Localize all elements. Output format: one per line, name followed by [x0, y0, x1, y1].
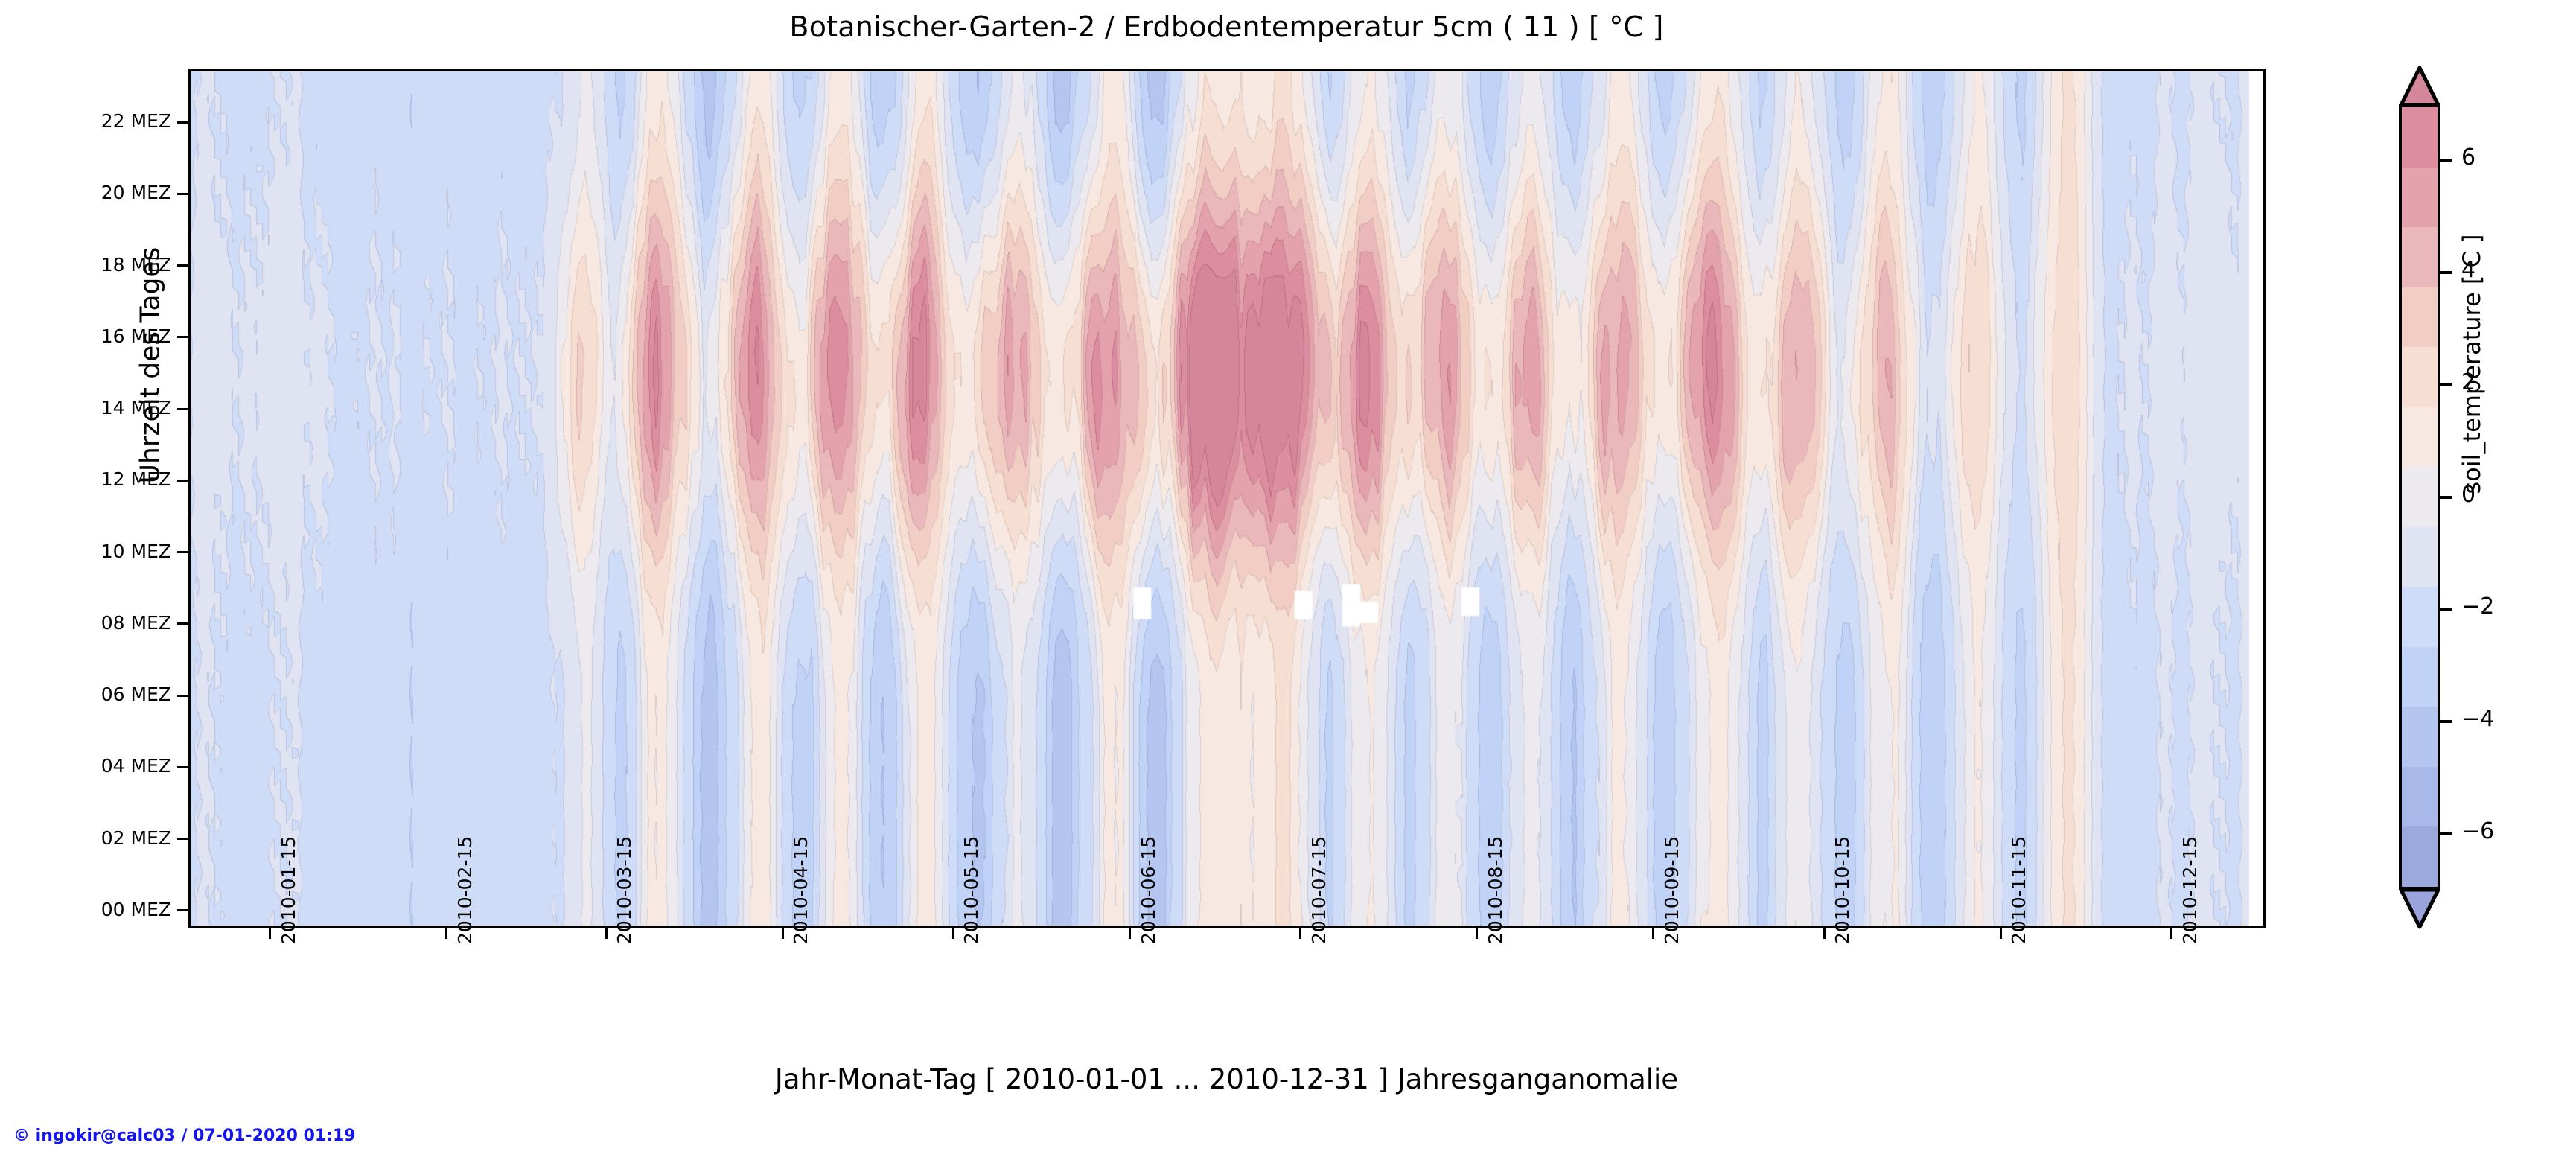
colorbar-band — [2402, 647, 2438, 707]
y-tick-label: 12 MEZ — [45, 468, 171, 490]
colorbar-tick-label: −2 — [2461, 593, 2494, 619]
colorbar-band — [2402, 826, 2438, 887]
colorbar-band — [2402, 347, 2438, 407]
contour-plot-area[interactable] — [188, 69, 2266, 928]
x-tick-mark — [445, 928, 447, 939]
x-tick-mark — [1129, 928, 1131, 939]
y-tick-mark — [177, 336, 188, 338]
y-tick-mark — [177, 193, 188, 195]
x-tick-mark — [1476, 928, 1478, 939]
y-tick-label: 08 MEZ — [45, 612, 171, 634]
x-tick-mark — [605, 928, 608, 939]
y-tick-label: 10 MEZ — [45, 541, 171, 562]
y-tick-label: 00 MEZ — [45, 899, 171, 920]
colorbar[interactable]: 6420−2−4−6 — [2399, 66, 2443, 929]
colorbar-tick-mark — [2440, 383, 2452, 386]
colorbar-band — [2402, 407, 2438, 468]
colorbar-band — [2402, 107, 2438, 168]
colorbar-tick-mark — [2440, 159, 2452, 162]
y-tick-mark — [177, 408, 188, 410]
x-tick-mark — [269, 928, 271, 939]
colorbar-tick-mark — [2440, 271, 2452, 274]
x-tick-label: 2010-11-15 — [2008, 836, 2030, 944]
colorbar-band — [2402, 227, 2438, 287]
x-tick-label: 2010-05-15 — [960, 836, 982, 944]
y-tick-mark — [177, 551, 188, 553]
colorbar-band — [2402, 168, 2438, 228]
x-tick-label: 2010-03-15 — [613, 836, 635, 944]
x-tick-label: 2010-12-15 — [2179, 836, 2201, 944]
x-tick-mark — [1652, 928, 1654, 939]
x-tick-mark — [1823, 928, 1826, 939]
y-tick-label: 04 MEZ — [45, 755, 171, 777]
footer-credit: © ingokir@calc03 / 07-01-2020 01:19 — [13, 1127, 356, 1145]
x-tick-label: 2010-01-15 — [278, 836, 299, 944]
colorbar-tick-mark — [2440, 608, 2452, 611]
y-tick-label: 02 MEZ — [45, 827, 171, 849]
colorbar-under-arrow — [2399, 888, 2440, 929]
x-tick-mark — [2000, 928, 2002, 939]
colorbar-bands — [2399, 104, 2440, 890]
colorbar-label: soil_temperature [ C ] — [2458, 208, 2486, 520]
colorbar-tick-mark — [2440, 496, 2452, 499]
y-tick-mark — [177, 264, 188, 267]
colorbar-band — [2402, 287, 2438, 348]
x-tick-label: 2010-06-15 — [1138, 836, 1159, 944]
y-tick-label: 14 MEZ — [45, 397, 171, 418]
y-tick-mark — [177, 480, 188, 482]
colorbar-tick-label: 6 — [2461, 144, 2475, 171]
x-tick-label: 2010-07-15 — [1308, 836, 1330, 944]
y-tick-label: 22 MEZ — [45, 110, 171, 132]
y-tick-label: 16 MEZ — [45, 325, 171, 347]
y-tick-label: 18 MEZ — [45, 254, 171, 275]
x-tick-label: 2010-10-15 — [1831, 836, 1853, 944]
y-tick-mark — [177, 622, 188, 625]
x-tick-mark — [1299, 928, 1301, 939]
x-tick-label: 2010-08-15 — [1485, 836, 1506, 944]
x-tick-label: 2010-04-15 — [790, 836, 812, 944]
y-tick-mark — [177, 695, 188, 697]
colorbar-over-arrow — [2399, 66, 2440, 107]
colorbar-band — [2402, 707, 2438, 767]
y-tick-mark — [177, 766, 188, 768]
colorbar-band — [2402, 767, 2438, 827]
x-tick-mark — [2170, 928, 2172, 939]
page-title: Botanischer-Garten-2 / Erdbodentemperatu… — [188, 10, 2266, 43]
colorbar-tick-mark — [2440, 832, 2452, 835]
colorbar-band — [2402, 467, 2438, 527]
colorbar-tick-mark — [2440, 720, 2452, 723]
contour-field — [191, 71, 2263, 926]
colorbar-band — [2402, 527, 2438, 587]
x-axis-label: Jahr-Monat-Tag [ 2010-01-01 ... 2010-12-… — [188, 1063, 2266, 1095]
x-tick-mark — [952, 928, 954, 939]
y-tick-label: 06 MEZ — [45, 684, 171, 705]
colorbar-band — [2402, 587, 2438, 647]
figure-canvas: Botanischer-Garten-2 / Erdbodentemperatu… — [0, 0, 2576, 1169]
y-tick-mark — [177, 121, 188, 124]
x-tick-label: 2010-02-15 — [454, 836, 476, 944]
y-tick-mark — [177, 909, 188, 911]
x-tick-label: 2010-09-15 — [1661, 836, 1683, 944]
y-tick-label: 20 MEZ — [45, 182, 171, 203]
colorbar-tick-label: −4 — [2461, 706, 2494, 732]
colorbar-tick-label: −6 — [2461, 818, 2494, 844]
x-tick-mark — [782, 928, 784, 939]
y-tick-mark — [177, 838, 188, 840]
